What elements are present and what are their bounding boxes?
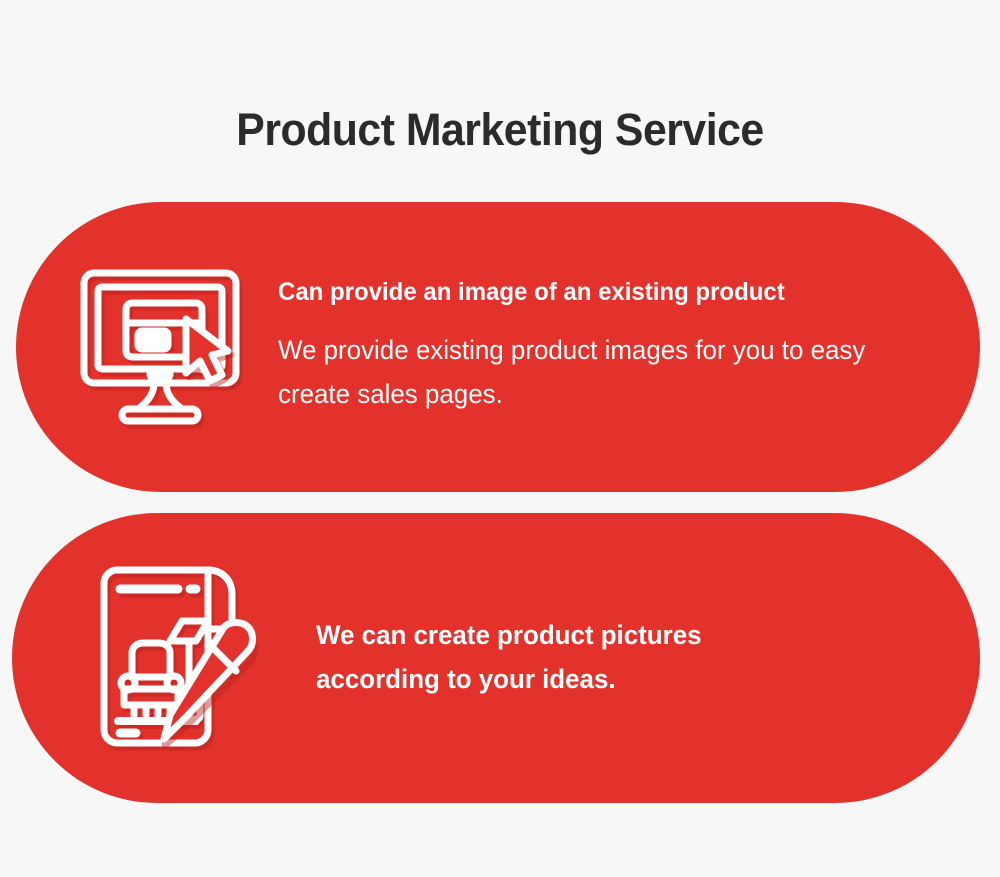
monitor-cursor-icon (80, 267, 248, 427)
feature-card-existing-product[interactable]: Can provide an image of an existing prod… (16, 202, 980, 492)
sketch-pencil-icon (96, 565, 268, 751)
card-body: Can provide an image of an existing prod… (248, 277, 980, 416)
page-root: Product Marketing Service (0, 0, 1000, 877)
card-heading: Can provide an image of an existing prod… (278, 277, 914, 307)
card-body: We can create product pictures according… (268, 614, 980, 701)
card-description: We provide existing product images for y… (278, 329, 892, 416)
feature-card-custom-pictures[interactable]: We can create product pictures according… (12, 513, 980, 803)
card-heading: We can create product pictures according… (316, 614, 796, 701)
page-title: Product Marketing Service (25, 104, 975, 156)
